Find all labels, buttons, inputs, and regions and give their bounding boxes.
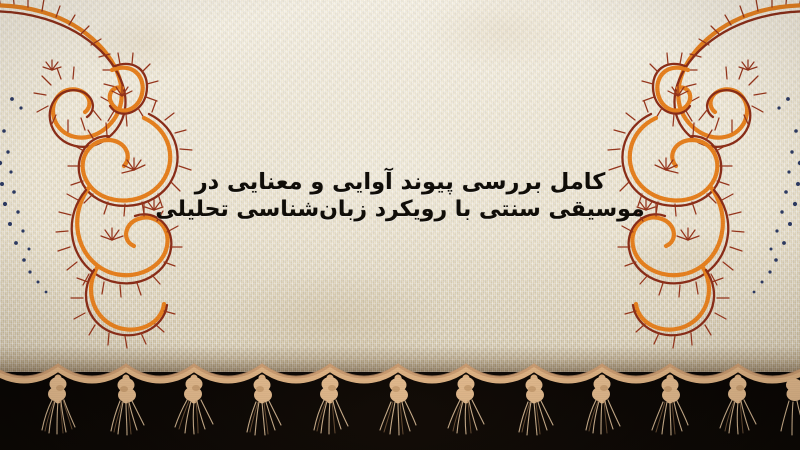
- navy-speckle-stitches: [753, 97, 800, 293]
- fringe-tassels: [0, 365, 800, 435]
- title-card-scene: کامل بررسی پیوند آوایی و معنایی در موسیق…: [0, 0, 800, 450]
- title-line-2: موسیقی سنتی با رویکرد زبان‌شناسی تحلیلی: [150, 196, 650, 224]
- title-line-1: کامل بررسی پیوند آوایی و معنایی در: [150, 168, 650, 196]
- title-block: کامل بررسی پیوند آوایی و معنایی در موسیق…: [150, 168, 650, 224]
- knotted-tassel-fringe: [0, 354, 800, 450]
- navy-speckle-stitches: [0, 97, 47, 293]
